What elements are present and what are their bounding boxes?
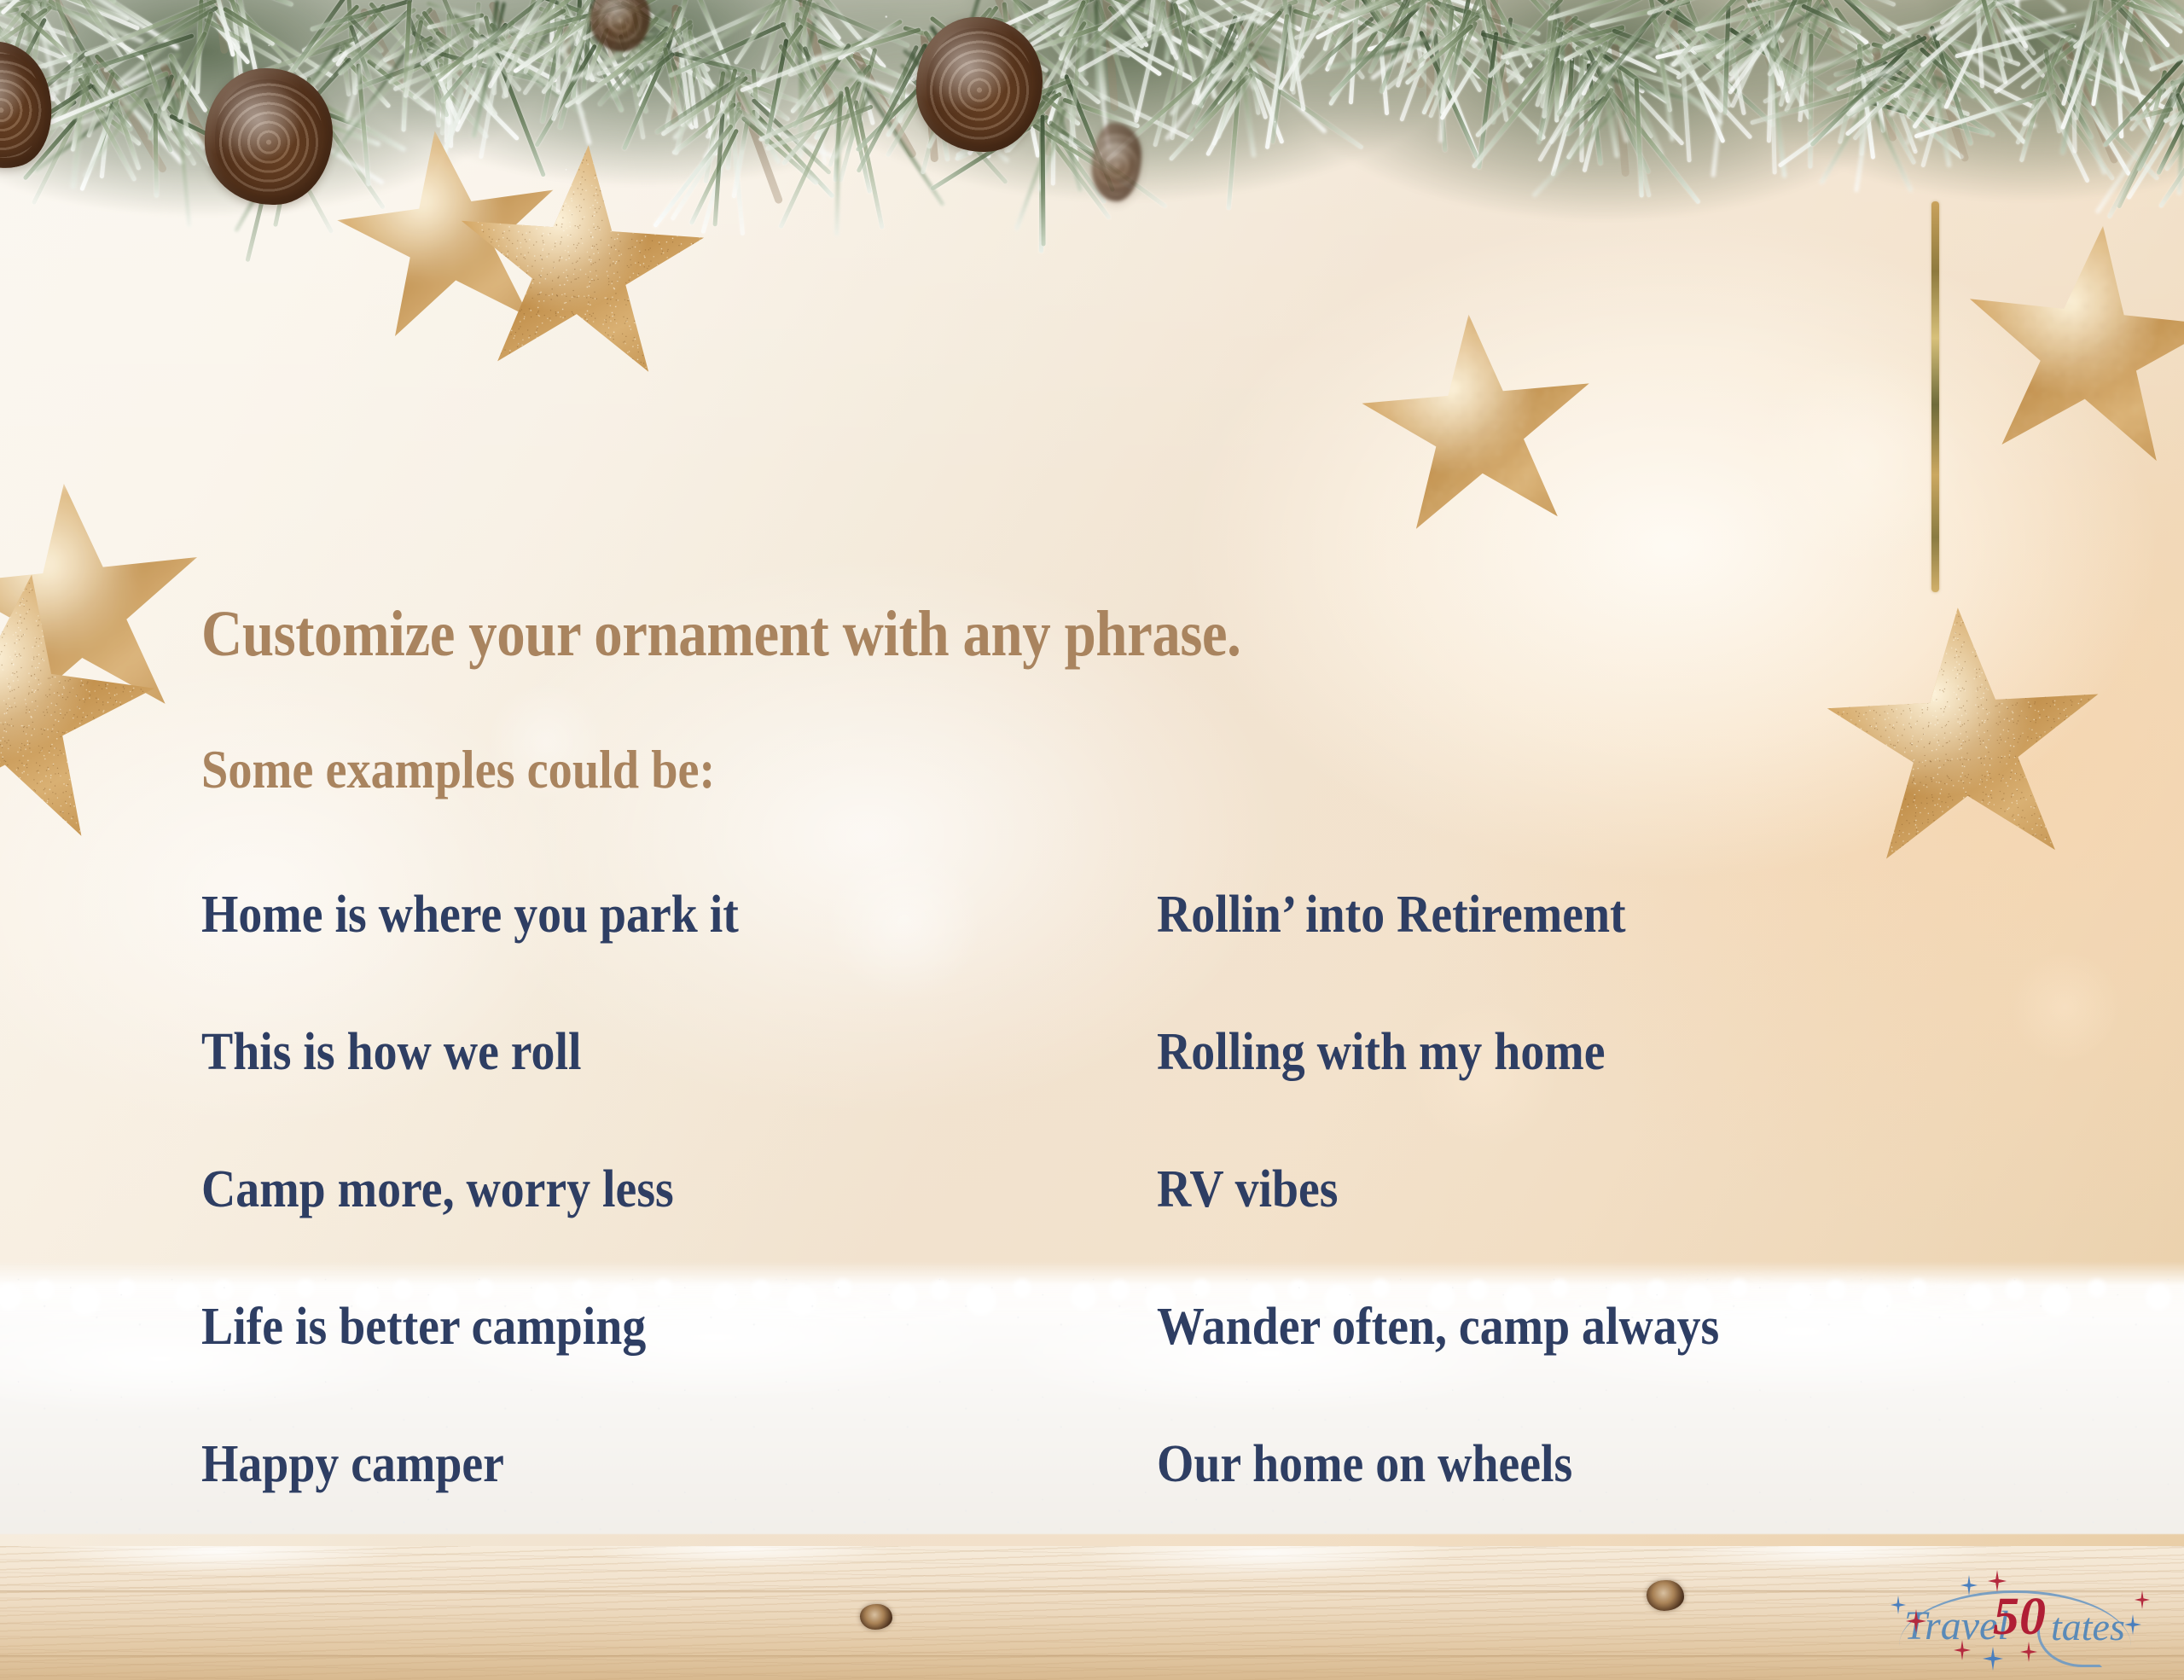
phrase-row: Camp more, worry less RV vibes xyxy=(201,1162,2061,1299)
phrase-item: Camp more, worry less xyxy=(201,1162,1061,1218)
phrase-row: This is how we roll Rolling with my home xyxy=(201,1025,2061,1162)
phrase-row: Happy camper Our home on wheels xyxy=(201,1437,2061,1574)
phrase-item: Our home on wheels xyxy=(1157,1437,1971,1492)
examples-subheading: Some examples could be: xyxy=(201,738,715,801)
sparkle-icon xyxy=(1960,1575,1978,1596)
phrase-item: Rollin’ into Retirement xyxy=(1157,887,1971,943)
star-hanging-cord xyxy=(1931,201,1939,592)
phrase-row: Life is better camping Wander often, cam… xyxy=(201,1299,2061,1437)
phrase-examples-grid: Home is where you park it Rollin’ into R… xyxy=(201,887,2061,1574)
ornament-phrase-poster: Customize your ornament with any phrase.… xyxy=(0,0,2184,1680)
phrase-item: Life is better camping xyxy=(201,1299,1061,1355)
phrase-item: Home is where you park it xyxy=(201,887,1061,943)
phrase-item: RV vibes xyxy=(1157,1162,1971,1218)
sparkle-icon xyxy=(2135,1590,2150,1609)
brand-logo: Travel 50 tates xyxy=(1892,1568,2148,1669)
phrase-item: Wander often, camp always xyxy=(1157,1299,1971,1355)
phrase-row: Home is where you park it Rollin’ into R… xyxy=(201,887,2061,1025)
phrase-item: This is how we roll xyxy=(201,1025,1061,1080)
logo-number-fifty: 50 xyxy=(1993,1587,2046,1648)
plank-seam-line xyxy=(0,1655,2184,1658)
phrase-item: Rolling with my home xyxy=(1157,1025,1971,1080)
sparkle-icon xyxy=(1983,1647,2003,1671)
phrase-item: Happy camper xyxy=(201,1437,1061,1492)
logo-word-states: tates xyxy=(2051,1604,2125,1649)
page-title: Customize your ornament with any phrase. xyxy=(201,597,1240,671)
